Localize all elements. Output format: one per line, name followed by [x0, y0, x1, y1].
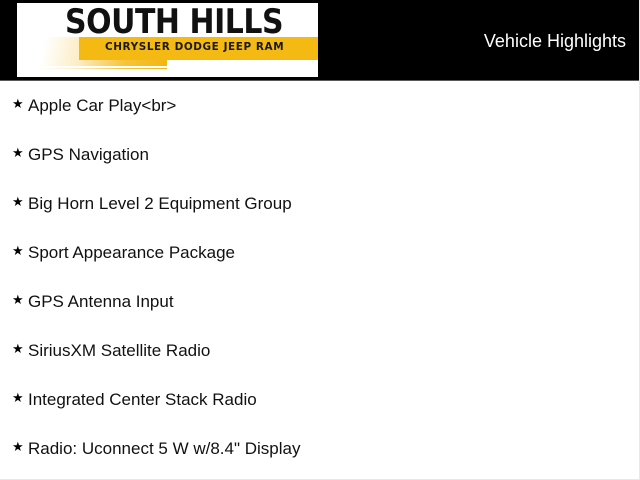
page-header: SOUTH HILLS CHRYSLER DODGE JEEP RAM Vehi…: [0, 0, 640, 81]
logo-underline-divider: [17, 66, 318, 68]
dealer-name-wordmark: SOUTH HILLS: [65, 5, 288, 39]
dealer-logo-graphic: SOUTH HILLS CHRYSLER DODGE JEEP RAM: [17, 3, 318, 77]
star-icon: ★: [12, 194, 28, 210]
star-icon: ★: [12, 96, 28, 112]
list-item-label: Radio: Uconnect 5 W w/8.4" Display: [28, 439, 300, 459]
list-item-label: GPS Navigation: [28, 145, 149, 165]
star-icon: ★: [12, 145, 28, 161]
dealer-logo[interactable]: SOUTH HILLS CHRYSLER DODGE JEEP RAM: [17, 3, 318, 77]
list-item-label: GPS Antenna Input: [28, 292, 174, 312]
list-item: ★ GPS Navigation: [0, 130, 640, 179]
list-item-label: Apple Car Play<br>: [28, 96, 176, 116]
list-item: ★ Apple Car Play<br>: [0, 81, 640, 130]
list-item-label: SiriusXM Satellite Radio: [28, 341, 210, 361]
vehicle-highlights-page: SOUTH HILLS CHRYSLER DODGE JEEP RAM Vehi…: [0, 0, 640, 480]
vehicle-highlights-list: ★ Apple Car Play<br> ★ GPS Navigation ★ …: [0, 81, 640, 473]
list-item-label: Big Horn Level 2 Equipment Group: [28, 194, 292, 214]
dealer-brands-label: CHRYSLER DODGE JEEP RAM: [105, 40, 295, 54]
star-icon: ★: [12, 341, 28, 357]
list-item: ★ Integrated Center Stack Radio: [0, 375, 640, 424]
list-item: ★ GPS Antenna Input: [0, 277, 640, 326]
list-item: ★ Big Horn Level 2 Equipment Group: [0, 179, 640, 228]
star-icon: ★: [12, 243, 28, 259]
list-item-label: Sport Appearance Package: [28, 243, 235, 263]
list-item: ★ SiriusXM Satellite Radio: [0, 326, 640, 375]
star-icon: ★: [12, 439, 28, 455]
list-item: ★ Sport Appearance Package: [0, 228, 640, 277]
page-title: Vehicle Highlights: [484, 30, 626, 52]
list-item-label: Integrated Center Stack Radio: [28, 390, 257, 410]
star-icon: ★: [12, 292, 28, 308]
list-item: ★ Radio: Uconnect 5 W w/8.4" Display: [0, 424, 640, 473]
star-icon: ★: [12, 390, 28, 406]
